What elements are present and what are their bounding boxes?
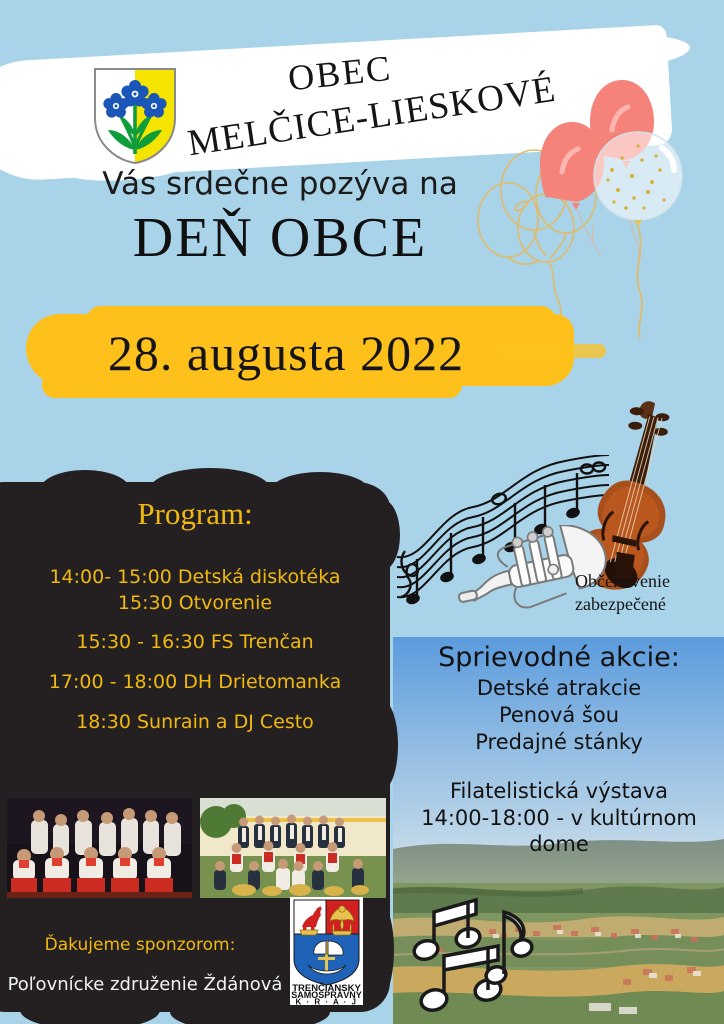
trenciansky-kraj-logo: TRENČIANSKY SAMOSPRÁVNY K · R · A · J	[290, 897, 363, 1005]
side-events-spacer	[396, 756, 722, 778]
brass-band-photo	[200, 798, 386, 898]
side-event-item-0: Detské atrakcie	[396, 675, 722, 702]
folk-dance-ensemble-photo	[7, 798, 192, 898]
program-item-0: 14:00- 15:00 Detská diskotéka 15:30 Otvo…	[0, 565, 390, 616]
refreshments-note: Občerstvenie zabezpečené	[575, 570, 715, 617]
event-title: DEŇ OBCE	[0, 206, 560, 270]
program-item-2: 17:00 - 18:00 DH Drietomanka	[0, 670, 390, 696]
panel-bottom-bump-1	[20, 990, 160, 1024]
music-notes-icon	[400, 890, 550, 1015]
exhibition-line-2: dome	[396, 831, 722, 858]
invitation-text: Vás srdečne pozýva na	[0, 166, 560, 202]
coat-of-arms	[92, 66, 178, 166]
sponsors-title: Ďakujeme sponzorom:	[0, 935, 280, 955]
refreshments-line2: zabezpečené	[575, 593, 715, 616]
program-list: 14:00- 15:00 Detská diskotéka 15:30 Otvo…	[0, 565, 390, 749]
exhibition-line-1: 14:00-18:00 - v kultúrnom	[396, 805, 722, 832]
side-event-item-2: Predajné stánky	[396, 729, 722, 756]
event-poster: OBEC MELČICE-LIESKOVÉ Vás srdečne pozýva…	[0, 0, 724, 1024]
exhibition-line-0: Filatelistická výstava	[396, 778, 722, 805]
program-title: Program:	[0, 496, 390, 532]
event-date: 28. augusta 2022	[26, 324, 546, 382]
program-item-3: 18:30 Sunrain a DJ Cesto	[0, 710, 390, 736]
side-events-block: Sprievodné akcie: Detské atrakcie Penová…	[396, 642, 722, 858]
side-events-title: Sprievodné akcie:	[396, 642, 722, 673]
refreshments-line1: Občerstvenie	[575, 570, 715, 593]
date-banner: 28. augusta 2022	[26, 300, 586, 400]
logo-line-2: K · R · A · J	[295, 998, 357, 1006]
sponsor-name-0: Poľovnícke združenie Ždánová	[0, 974, 290, 995]
side-event-item-1: Penová šou	[396, 702, 722, 729]
panel-edge-bump-5	[362, 900, 394, 1000]
program-item-1: 15:30 - 16:30 FS Trenčan	[0, 630, 390, 656]
